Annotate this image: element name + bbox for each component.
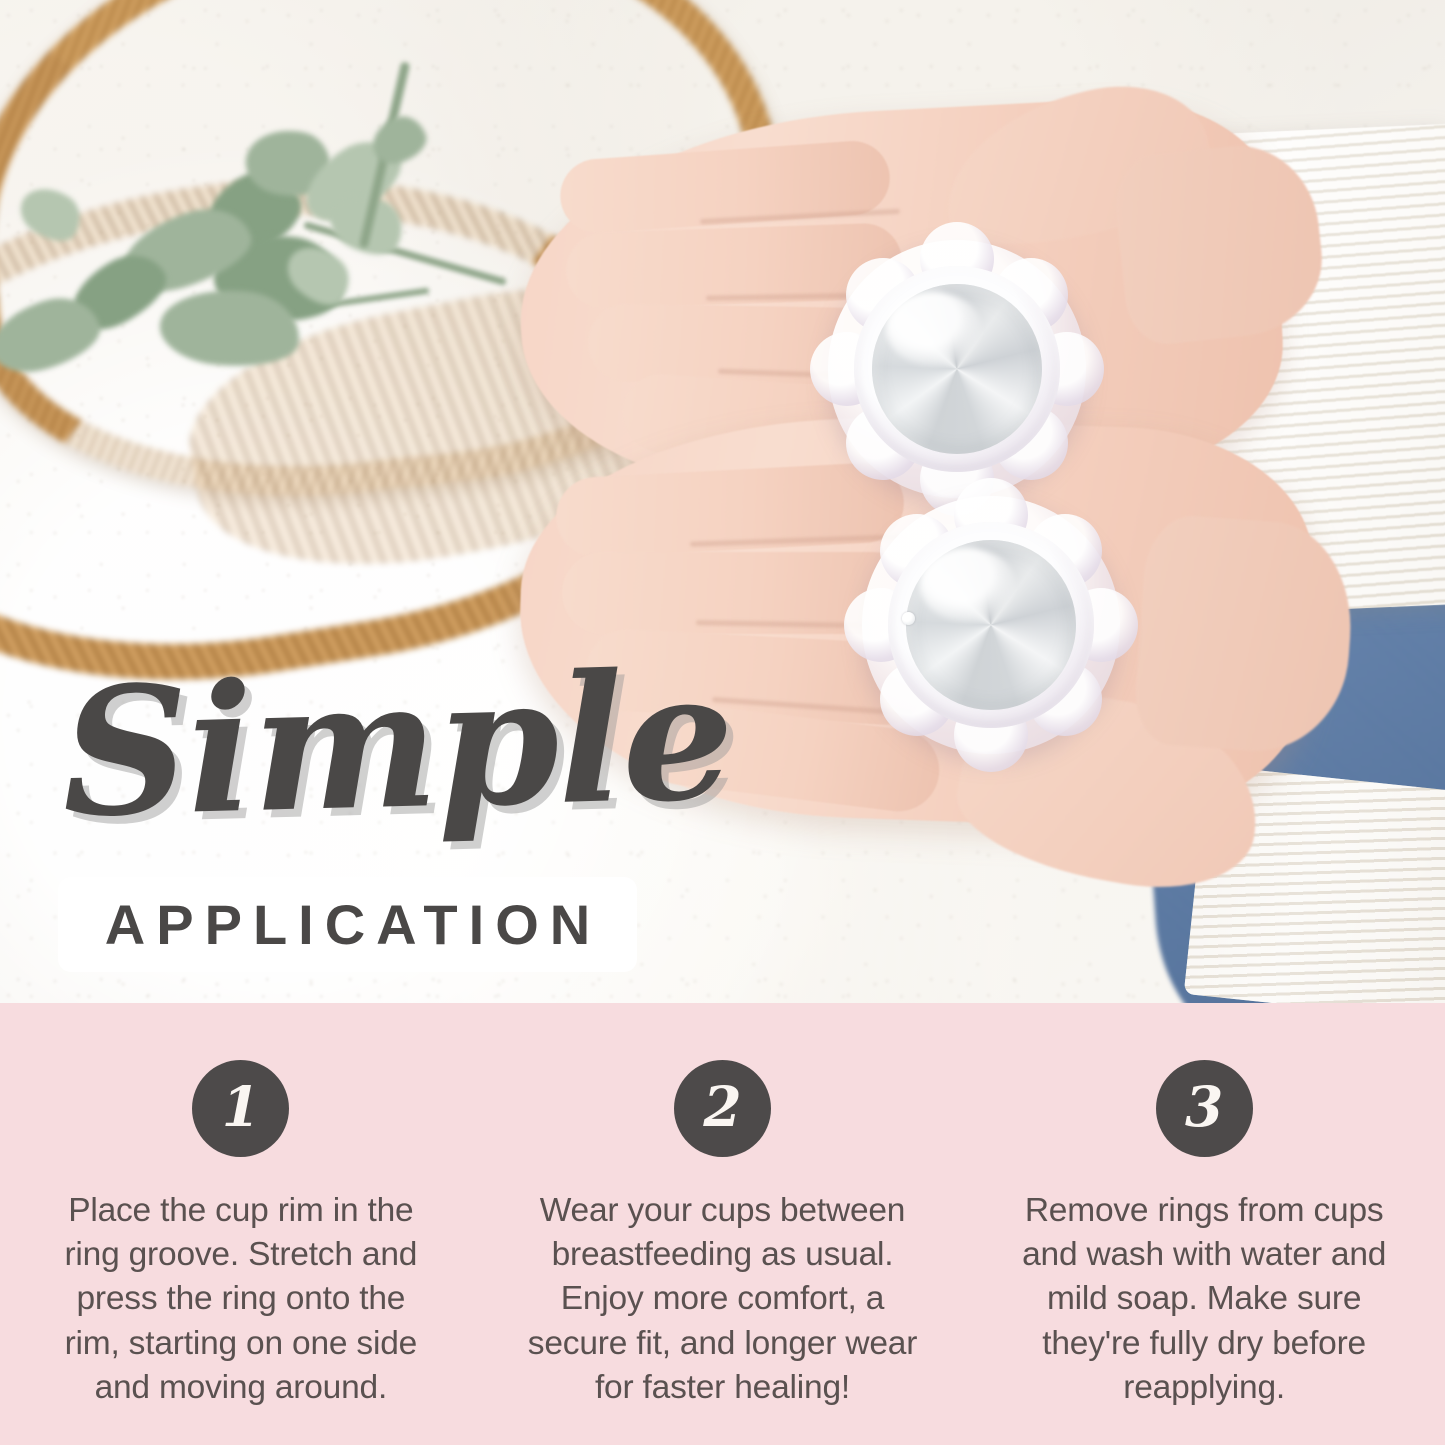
step-3-text: Remove rings from cups and wash with wat…	[1007, 1189, 1401, 1410]
headline-block: Simple APPLICATION	[56, 666, 676, 842]
headline-script: Simple	[54, 650, 678, 842]
step-3-badge: 3	[1156, 1060, 1253, 1157]
headline-subtitle: APPLICATION	[94, 892, 601, 957]
step-3-number: 3	[1185, 1079, 1223, 1139]
step-2-text: Wear your cups between breastfeeding as …	[522, 1189, 922, 1410]
steps-panel: 1 Place the cup rim in the ring groove. …	[0, 1003, 1445, 1445]
step-2-badge: 2	[674, 1060, 771, 1157]
step-1-number: 1	[222, 1079, 260, 1139]
steps-row: 1 Place the cup rim in the ring groove. …	[0, 1003, 1445, 1410]
headline-subtitle-box: APPLICATION	[58, 877, 637, 972]
infographic-page: Simple APPLICATION 1 Place the cup rim i…	[0, 0, 1445, 1445]
cup-highlight-upper	[886, 292, 982, 366]
nursing-cup-upper	[828, 240, 1086, 498]
nursing-cup-lower	[862, 496, 1120, 754]
cup-vent-hole	[902, 612, 915, 625]
step-1-text: Place the cup rim in the ring groove. St…	[48, 1189, 434, 1410]
step-1: 1 Place the cup rim in the ring groove. …	[0, 1003, 482, 1410]
cup-highlight-lower	[920, 548, 1016, 622]
step-2: 2 Wear your cups between breastfeeding a…	[482, 1003, 964, 1410]
step-3: 3 Remove rings from cups and wash with w…	[963, 1003, 1445, 1410]
step-2-number: 2	[703, 1079, 741, 1139]
step-1-badge: 1	[192, 1060, 289, 1157]
